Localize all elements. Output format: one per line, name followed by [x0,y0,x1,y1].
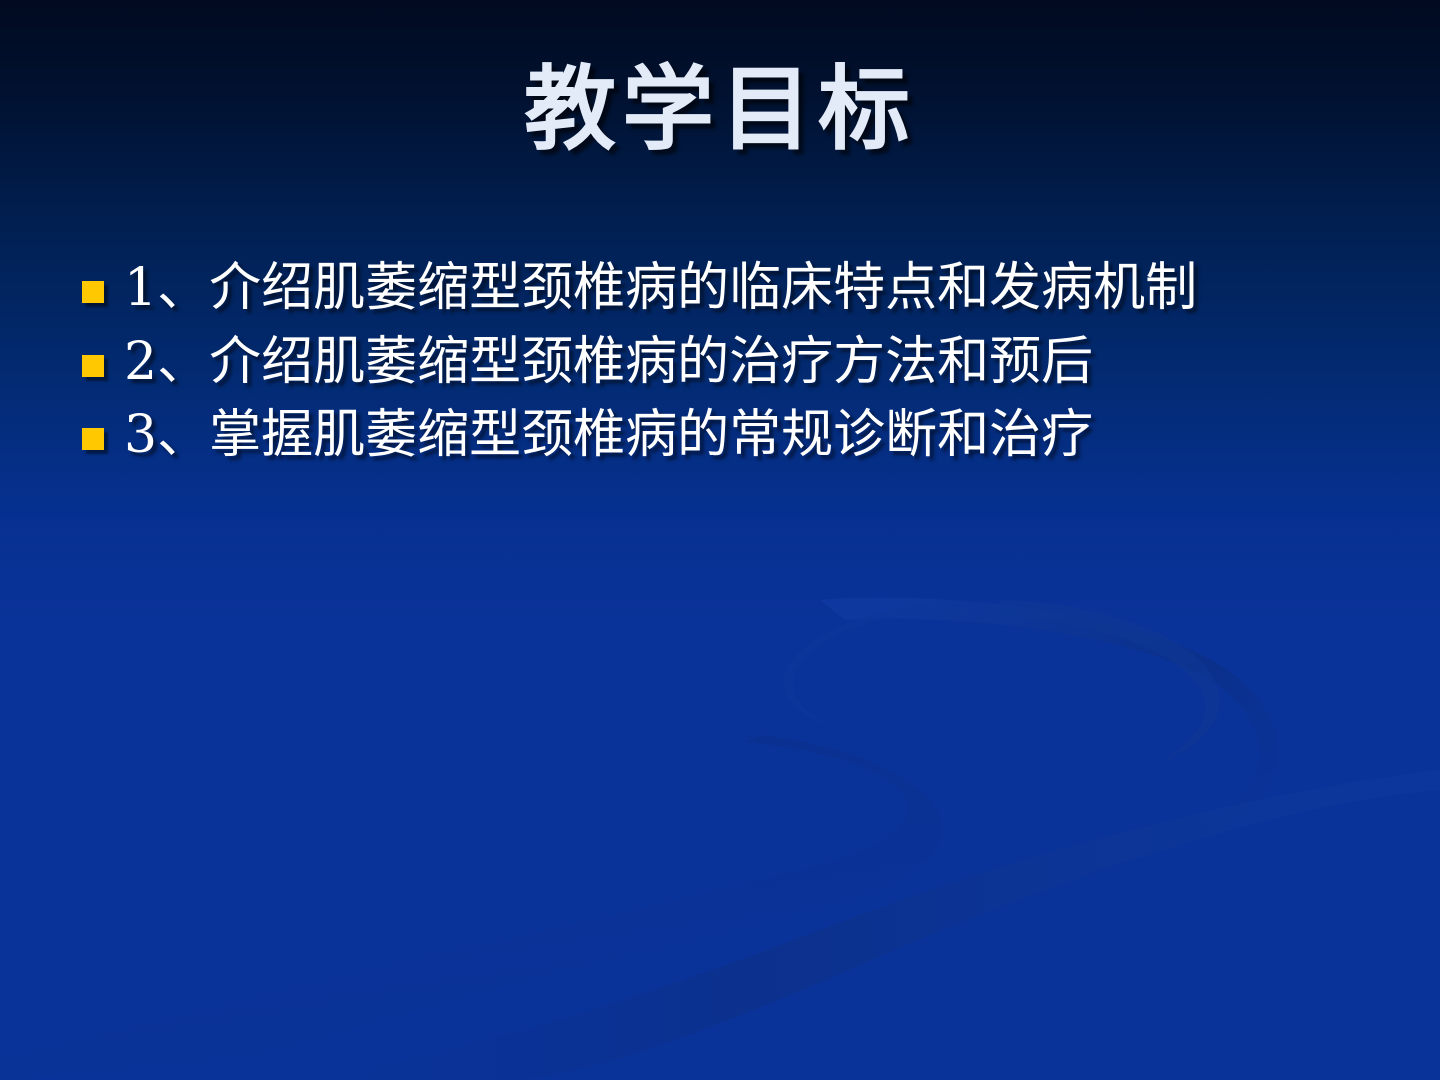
square-bullet-icon [82,355,104,377]
list-item: 2、介绍肌萎缩型颈椎病的治疗方法和预后 [82,329,1372,397]
page-title: 教学目标 [524,62,916,159]
presentation-slide: 教学目标 1、介绍肌萎缩型颈椎病的临床特点和发病机制 2、介绍肌萎缩型颈椎病的治… [0,0,1440,1080]
square-bullet-icon [82,281,104,303]
bullet-list: 1、介绍肌萎缩型颈椎病的临床特点和发病机制 2、介绍肌萎缩型颈椎病的治疗方法和预… [82,255,1372,476]
list-item-label: 3、掌握肌萎缩型颈椎病的常规诊断和治疗 [124,402,1372,470]
slide-title-container: 教学目标 [0,62,1440,159]
list-item-label: 1、介绍肌萎缩型颈椎病的临床特点和发病机制 [124,255,1372,323]
list-item: 1、介绍肌萎缩型颈椎病的临床特点和发病机制 [82,255,1372,323]
square-bullet-icon [82,428,104,450]
list-item: 3、掌握肌萎缩型颈椎病的常规诊断和治疗 [82,402,1372,470]
list-item-label: 2、介绍肌萎缩型颈椎病的治疗方法和预后 [124,329,1372,397]
